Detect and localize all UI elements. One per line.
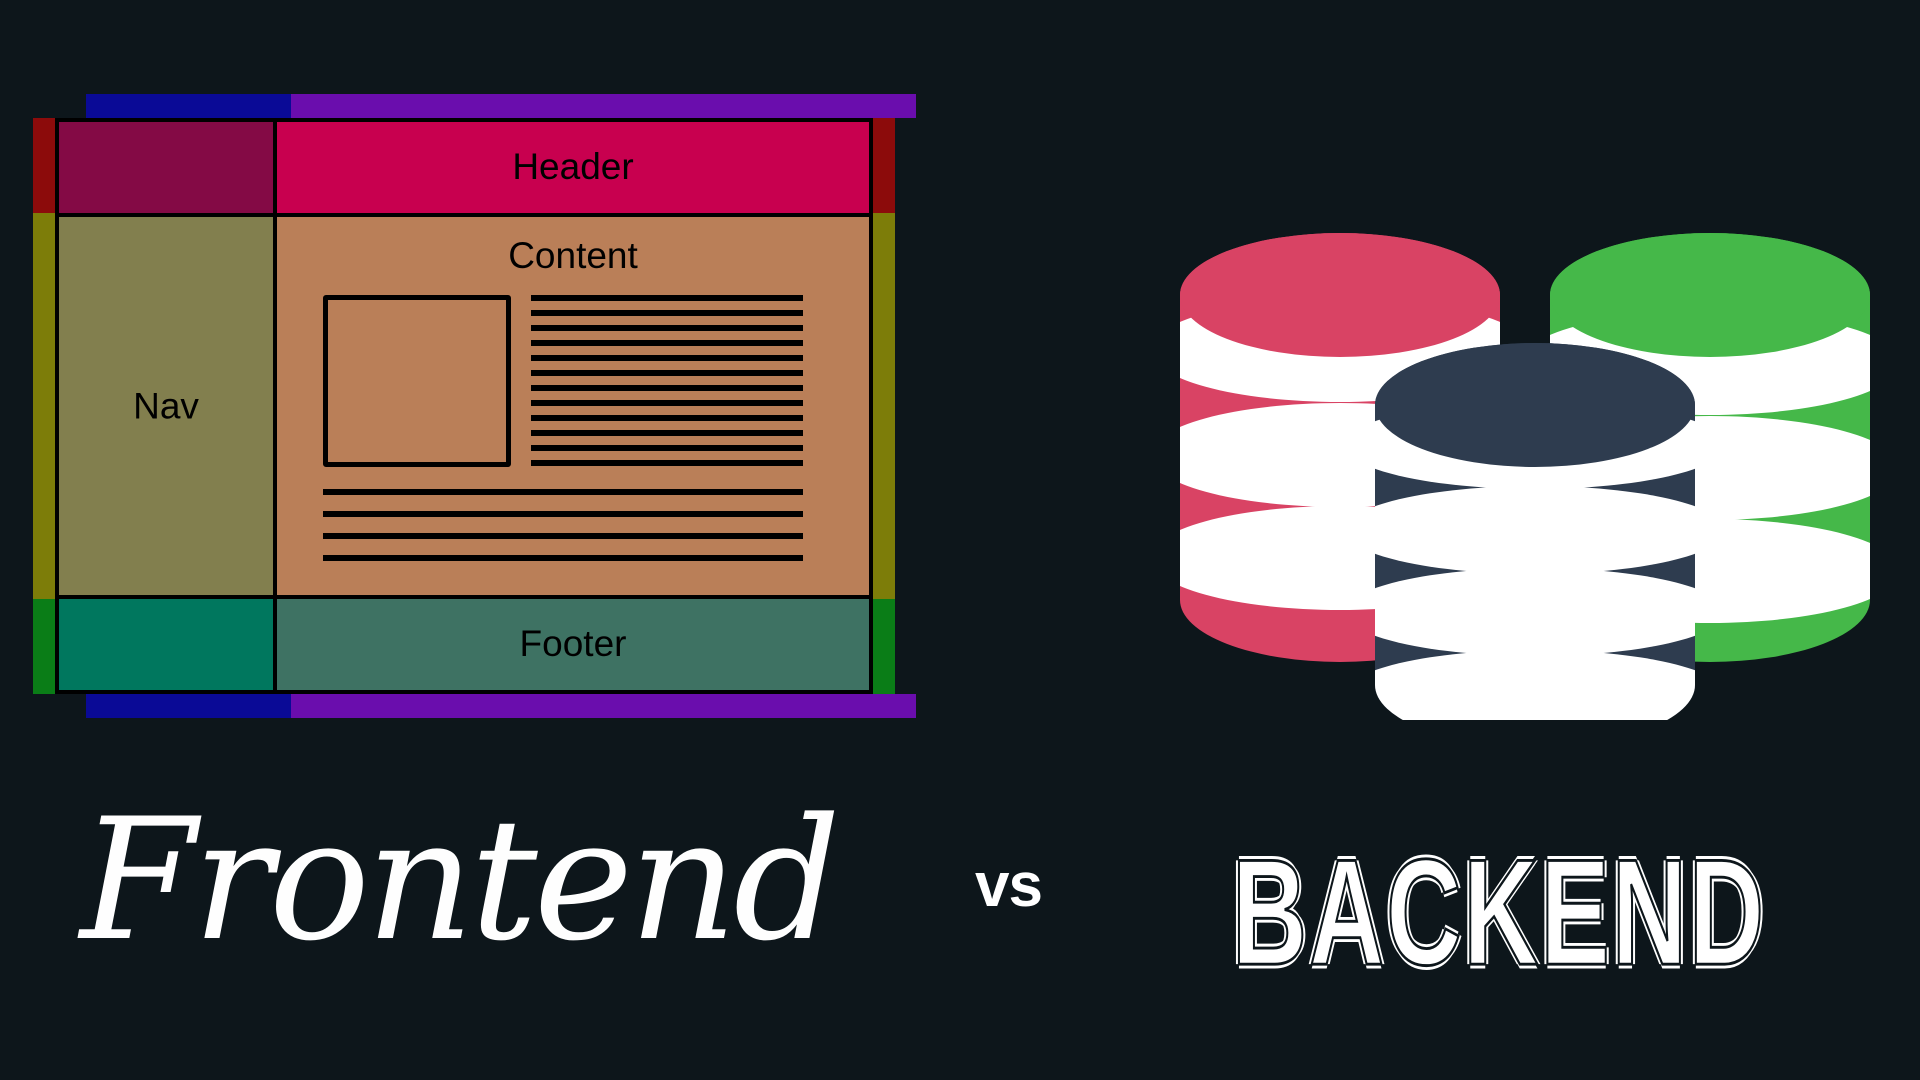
wireframe-frame: Header Nav Content — [55, 118, 873, 694]
image-placeholder-box — [323, 295, 511, 467]
text-line — [531, 385, 803, 391]
text-line — [531, 370, 803, 376]
edge-strip-left-header — [33, 118, 55, 213]
text-line — [531, 400, 803, 406]
text-line — [323, 533, 803, 539]
text-line — [531, 340, 803, 346]
header-label: Header — [277, 148, 869, 185]
edge-strip-right-header — [873, 118, 895, 213]
edge-strip-right-footer — [873, 599, 895, 694]
text-line — [323, 555, 803, 561]
backend-caption: BACKEND — [1232, 838, 1766, 989]
database-cylinder-center — [1345, 343, 1725, 720]
edge-strip-left-content — [33, 213, 55, 599]
footer-label: Footer — [277, 625, 869, 662]
wireframe-footer-region: Footer — [277, 595, 869, 690]
wireframe-header-region: Header — [277, 122, 869, 217]
text-line — [531, 415, 803, 421]
content-label: Content — [277, 237, 869, 274]
text-line — [531, 355, 803, 361]
frontend-wireframe-diagram: Header Nav Content — [33, 94, 895, 718]
text-line — [531, 295, 803, 301]
edge-strip-right-content — [873, 213, 895, 599]
text-line — [531, 460, 803, 466]
text-line — [323, 489, 803, 495]
versus-caption: vs — [975, 855, 1042, 917]
wireframe-footer-corner — [59, 595, 277, 690]
text-line — [531, 430, 803, 436]
nav-label: Nav — [59, 388, 273, 425]
edge-strip-top-right — [291, 94, 916, 118]
text-line — [531, 325, 803, 331]
content-text-column — [531, 295, 803, 475]
text-line — [531, 445, 803, 451]
wireframe-nav-region: Nav — [59, 217, 277, 595]
edge-strip-top-left — [86, 94, 291, 118]
edge-strip-bottom-right — [291, 694, 916, 718]
edge-strip-left-footer — [33, 599, 55, 694]
frontend-caption: Frontend — [80, 775, 840, 985]
text-line — [323, 511, 803, 517]
wireframe-content-region: Content — [277, 217, 869, 595]
text-line — [531, 310, 803, 316]
wireframe-header-corner — [59, 122, 277, 217]
content-text-fullwidth — [323, 489, 803, 577]
database-cluster-icon — [1150, 200, 1900, 720]
edge-strip-bottom-left — [86, 694, 291, 718]
